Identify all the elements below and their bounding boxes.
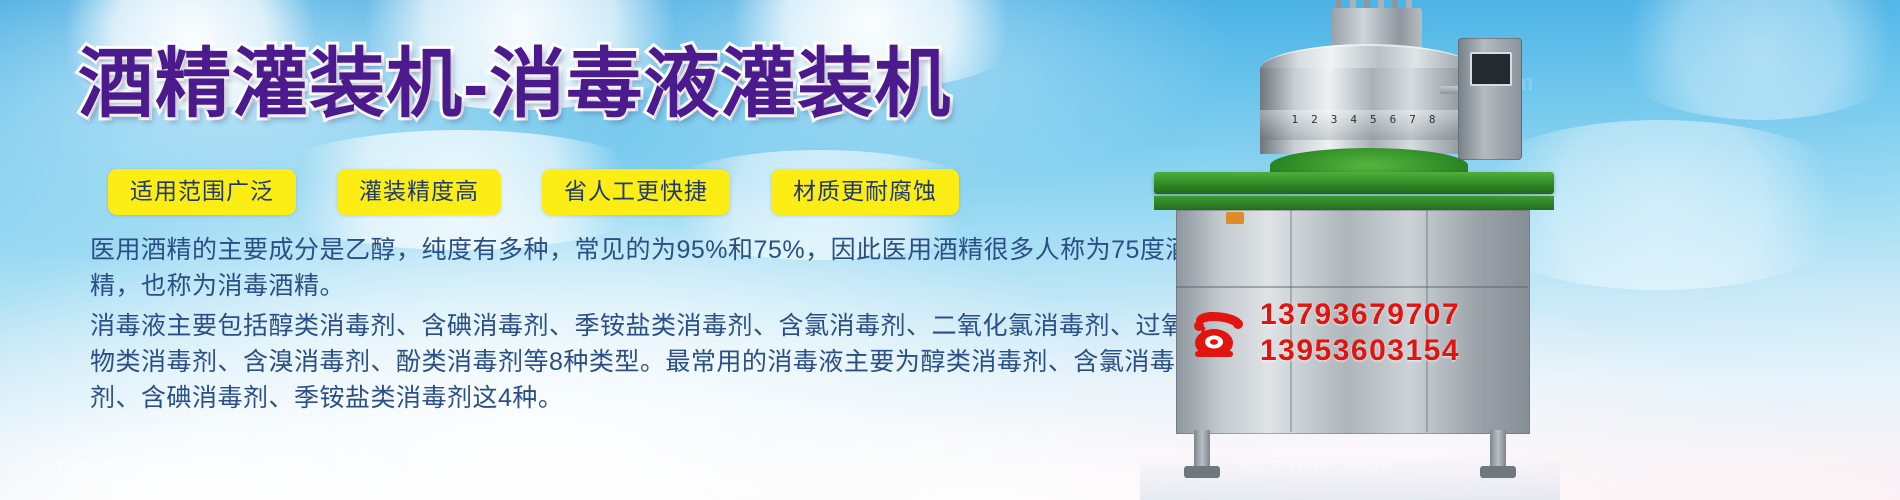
promo-banner: 6159Pic.com 6159Pic.com 6159Pic.com 酒精灌装… [0, 0, 1900, 500]
feature-badge-2: 灌装精度高 [337, 169, 501, 215]
feature-badge-3: 省人工更快捷 [542, 169, 730, 215]
machine-conveyor-rail [1154, 196, 1554, 210]
phone-number-2[interactable]: 13953603154 [1260, 334, 1460, 368]
machine-label-tag [1226, 212, 1244, 224]
description-paragraph-1: 医用酒精的主要成分是乙醇，纯度有多种，常见的为95%和75%，因此医用酒精很多人… [90, 232, 1220, 304]
machine-foot [1480, 466, 1516, 478]
cloud-puff [1600, 0, 1900, 120]
phone-number-list: 13793679707 13953603154 [1260, 298, 1460, 368]
description-paragraph-2: 消毒液主要包括醇类消毒剂、含碘消毒剂、季铵盐类消毒剂、含氯消毒剂、二氧化氯消毒剂… [90, 308, 1220, 416]
watermark: 6159Pic.com [40, 455, 195, 481]
machine-station-numbers: 12345678 [1272, 113, 1468, 133]
telephone-icon [1190, 307, 1246, 359]
description-block: 医用酒精的主要成分是乙醇，纯度有多种，常见的为95%和75%，因此医用酒精很多人… [90, 232, 1220, 420]
machine-control-screen [1470, 52, 1512, 86]
machine-conveyor-belt [1154, 172, 1554, 194]
feature-badge-list: 适用范围广泛 灌装精度高 省人工更快捷 材质更耐腐蚀 [108, 169, 959, 215]
product-image-filling-machine: 12345678 [1140, 0, 1560, 500]
phone-number-1[interactable]: 13793679707 [1260, 298, 1460, 332]
page-title: 酒精灌装机-消毒液灌装机 [78, 42, 951, 128]
machine-foot [1184, 466, 1220, 478]
feature-badge-1: 适用范围广泛 [108, 169, 296, 215]
feature-badge-4: 材质更耐腐蚀 [771, 169, 959, 215]
machine-cabinet-seam [1176, 286, 1528, 288]
contact-block[interactable]: 13793679707 13953603154 [1190, 298, 1460, 368]
